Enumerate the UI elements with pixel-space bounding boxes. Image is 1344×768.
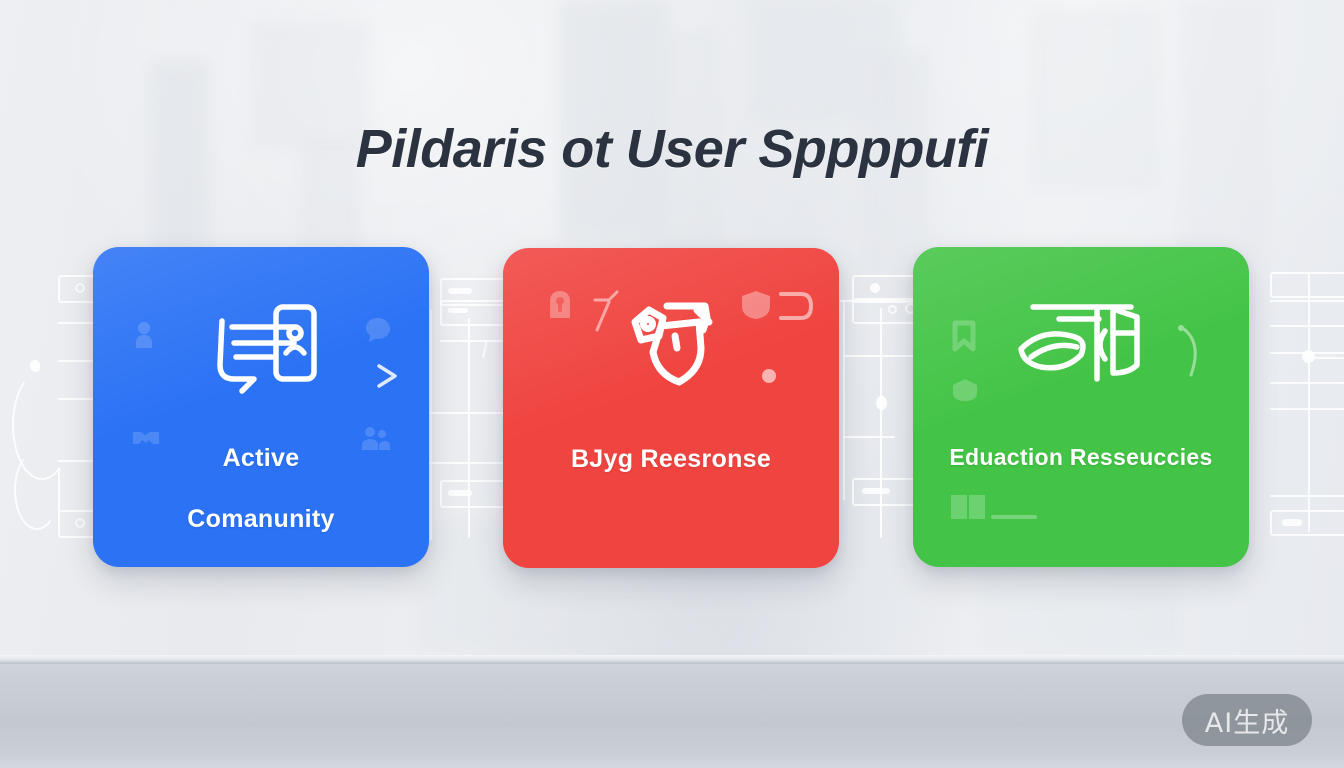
underline-glyph-icon [991,515,1037,521]
card-label-line1: Eduaction Resseuccies [913,444,1249,471]
book-graduation-icon [1013,297,1149,389]
user-badge-glyph-icon [131,320,157,350]
dot-glyph-icon [761,368,777,384]
card-active-community[interactable]: Active Comanunity [93,247,429,567]
chat-bubble-glyph-icon [365,317,391,343]
card-label-line1: Active [93,444,429,473]
graduation-cap-glyph-icon [949,377,981,405]
chat-message-contact-icon [198,299,324,395]
book-stack-glyph-icon [949,491,989,521]
screenshot-root: Pildaris ot User Sppppufi [0,0,1344,768]
bookmark-glyph-icon [949,319,979,353]
chevron-right-glyph-icon [369,359,403,393]
ai-generated-watermark: AI生成 [1182,694,1312,746]
card-education-resources[interactable]: Eduaction Resseuccies [913,247,1249,567]
orbit-arc-glyph-icon [1169,325,1209,381]
page-title: Pildaris ot User Sppppufi [0,118,1344,180]
desk-edge-highlight [0,655,1344,664]
lock-keyhole-glyph-icon [554,296,566,314]
shield-lock-icon [619,296,723,392]
pillar-card-row: Active Comanunity [0,247,1344,569]
desk-surface [0,664,1344,768]
shield-glyph-icon [741,290,771,320]
magnet-glyph-icon [775,290,815,326]
card-label-line1: BJyg Reesronse [503,445,839,474]
card-bug-response[interactable]: BJyg Reesronse [503,248,839,568]
card-label-line2: Comanunity [93,505,429,534]
